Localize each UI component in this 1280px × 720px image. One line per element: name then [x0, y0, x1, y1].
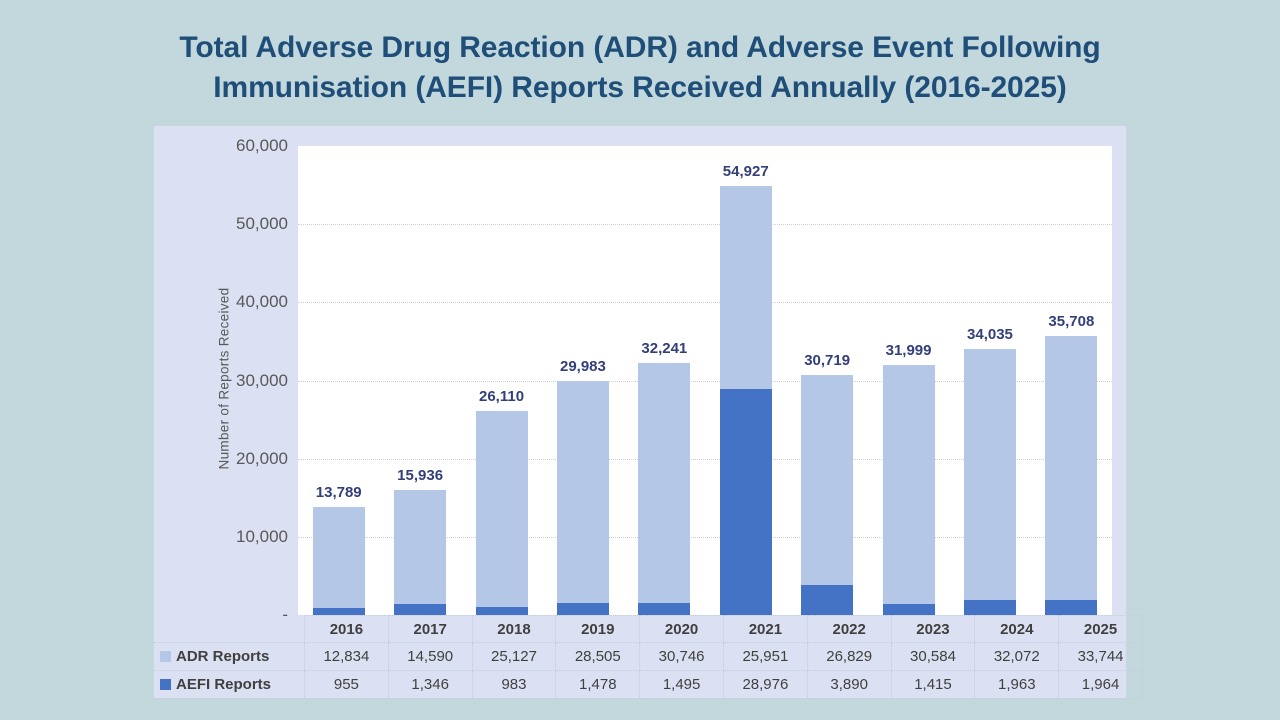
table-cell: 28,505	[556, 643, 640, 671]
bar-column: 34,035	[949, 146, 1030, 615]
table-cell: 1,963	[975, 671, 1059, 699]
bar-segment-aefi[interactable]	[557, 603, 609, 615]
table-header-year: 2023	[891, 616, 975, 643]
table-header-year: 2024	[975, 616, 1059, 643]
table-cell: 14,590	[388, 643, 472, 671]
bar-segment-adr[interactable]	[964, 349, 1016, 600]
bar-stack[interactable]	[394, 490, 446, 615]
table-cell: 33,744	[1059, 643, 1143, 671]
bar-segment-adr[interactable]	[476, 411, 528, 607]
bar-column: 29,983	[542, 146, 623, 615]
table-header-year: 2020	[640, 616, 724, 643]
bar-total-label: 15,936	[397, 467, 443, 484]
table-cell: 30,584	[891, 643, 975, 671]
table-header-year: 2016	[305, 616, 389, 643]
bar-column: 32,241	[624, 146, 705, 615]
y-axis-tick: 10,000	[168, 527, 288, 547]
table-cell: 955	[305, 671, 389, 699]
table-cell: 26,829	[807, 643, 891, 671]
bar-stack[interactable]	[720, 186, 772, 615]
y-axis-tick: 40,000	[168, 292, 288, 312]
table-cell: 28,976	[723, 671, 807, 699]
bar-stack[interactable]	[801, 375, 853, 615]
bar-segment-adr[interactable]	[1045, 336, 1097, 600]
y-axis-tick: 50,000	[168, 214, 288, 234]
bar-total-label: 13,789	[316, 484, 362, 501]
bar-stack[interactable]	[476, 411, 528, 615]
bar-total-label: 54,927	[723, 163, 769, 180]
bar-column: 15,936	[379, 146, 460, 615]
table-row-years: 2016201720182019202020212022202320242025	[154, 616, 1142, 643]
plot-area: 13,78915,93626,11029,98332,24154,92730,7…	[298, 146, 1112, 615]
table-header-year: 2022	[807, 616, 891, 643]
bar-segment-aefi[interactable]	[801, 585, 853, 615]
table-cell: 1,495	[640, 671, 724, 699]
bar-column: 31,999	[868, 146, 949, 615]
bar-segment-aefi[interactable]	[476, 607, 528, 615]
bar-total-label: 29,983	[560, 358, 606, 375]
bar-total-label: 34,035	[967, 326, 1013, 343]
bar-segment-adr[interactable]	[801, 375, 853, 585]
table-cell: 25,951	[723, 643, 807, 671]
bar-segment-adr[interactable]	[883, 365, 935, 604]
table-cell: 1,346	[388, 671, 472, 699]
bar-total-label: 31,999	[886, 342, 932, 359]
table-corner-cell	[154, 616, 305, 643]
bar-stack[interactable]	[1045, 336, 1097, 615]
bar-stack[interactable]	[964, 349, 1016, 615]
bar-segment-aefi[interactable]	[1045, 600, 1097, 615]
data-table: 2016201720182019202020212022202320242025…	[154, 615, 1143, 699]
table-row-aefi: AEFI Reports9551,3469831,4781,49528,9763…	[154, 671, 1142, 699]
bar-segment-aefi[interactable]	[720, 389, 772, 615]
table-cell: 32,072	[975, 643, 1059, 671]
legend-swatch-adr-icon	[160, 651, 171, 662]
table-header-year: 2018	[472, 616, 556, 643]
bar-segment-aefi[interactable]	[883, 604, 935, 615]
bar-column: 35,708	[1031, 146, 1112, 615]
bar-column: 26,110	[461, 146, 542, 615]
bar-stack[interactable]	[638, 363, 690, 615]
legend-swatch-aefi-icon	[160, 679, 171, 690]
table-cell: 30,746	[640, 643, 724, 671]
bar-stack[interactable]	[313, 507, 365, 615]
bar-total-label: 30,719	[804, 352, 850, 369]
bar-segment-adr[interactable]	[720, 186, 772, 389]
y-axis-tick: 30,000	[168, 371, 288, 391]
bar-segment-adr[interactable]	[313, 507, 365, 607]
bar-column: 54,927	[705, 146, 786, 615]
bar-total-label: 26,110	[479, 388, 524, 405]
bar-total-label: 35,708	[1048, 313, 1094, 330]
table-cell: 25,127	[472, 643, 556, 671]
table-cell: 983	[472, 671, 556, 699]
table-cell: 1,964	[1059, 671, 1143, 699]
bar-columns: 13,78915,93626,11029,98332,24154,92730,7…	[298, 146, 1112, 615]
bar-segment-adr[interactable]	[557, 381, 609, 604]
bar-stack[interactable]	[883, 365, 935, 615]
table-cell: 1,478	[556, 671, 640, 699]
y-axis-tick: 60,000	[168, 136, 288, 156]
table-header-year: 2017	[388, 616, 472, 643]
table-header-year: 2025	[1059, 616, 1143, 643]
bar-stack[interactable]	[557, 381, 609, 615]
bar-segment-aefi[interactable]	[964, 600, 1016, 615]
page-title: Total Adverse Drug Reaction (ADR) and Ad…	[90, 28, 1190, 107]
legend-label-aefi: AEFI Reports	[176, 676, 271, 693]
bar-segment-aefi[interactable]	[638, 603, 690, 615]
legend-item-adr[interactable]: ADR Reports	[154, 643, 305, 671]
table-header-year: 2019	[556, 616, 640, 643]
table-cell: 1,415	[891, 671, 975, 699]
table-header-year: 2021	[723, 616, 807, 643]
bar-column: 13,789	[298, 146, 379, 615]
bar-column: 30,719	[786, 146, 867, 615]
legend-label-adr: ADR Reports	[176, 648, 269, 665]
legend-item-aefi[interactable]: AEFI Reports	[154, 671, 305, 699]
chart-card: Number of Reports Received 60,00050,0004…	[154, 126, 1126, 698]
table-row-adr: ADR Reports12,83414,59025,12728,50530,74…	[154, 643, 1142, 671]
bar-segment-aefi[interactable]	[313, 608, 365, 615]
bar-segment-aefi[interactable]	[394, 604, 446, 615]
table-cell: 3,890	[807, 671, 891, 699]
bar-segment-adr[interactable]	[394, 490, 446, 604]
y-axis-tick: 20,000	[168, 449, 288, 469]
table-cell: 12,834	[305, 643, 389, 671]
bar-segment-adr[interactable]	[638, 363, 690, 603]
bar-total-label: 32,241	[641, 340, 687, 357]
